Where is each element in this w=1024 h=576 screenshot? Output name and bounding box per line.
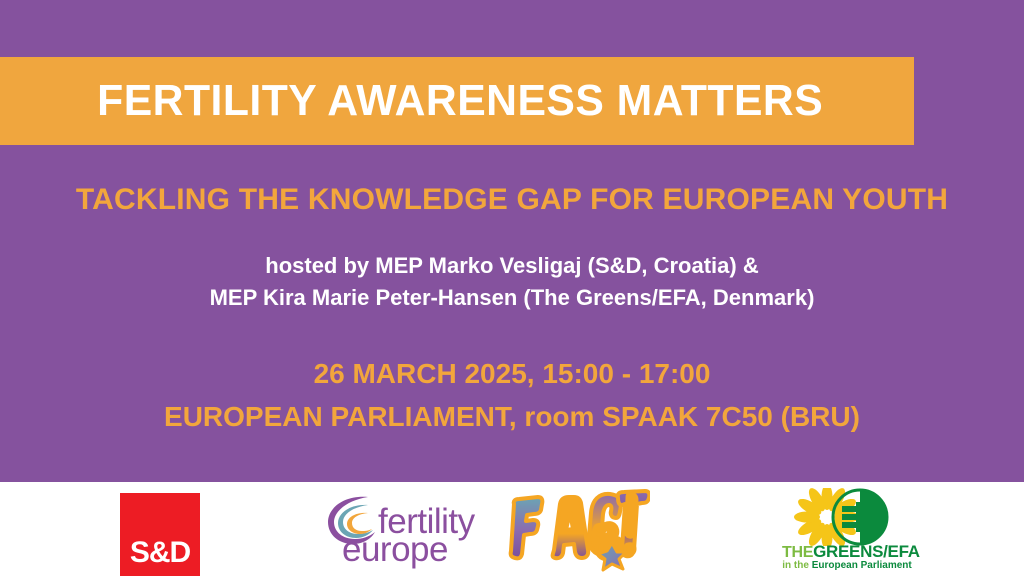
facts-logo-icon xyxy=(508,488,650,572)
sd-logo-text: S&D xyxy=(120,538,200,568)
greens-efa-logo: THEGREENS/EFA in the European Parliament xyxy=(782,488,912,576)
greens-efa-tagline-bold: European Parliament xyxy=(812,560,912,571)
title-banner: FERTILITY AWARENESS MATTERS xyxy=(0,57,914,145)
greens-efa-tagline: in the European Parliament xyxy=(782,561,912,571)
host-line-2: MEP Kira Marie Peter-Hansen (The Greens/… xyxy=(0,282,1024,314)
greens-efa-tagline-light: in the xyxy=(782,560,811,571)
facts-logo xyxy=(508,488,650,572)
greens-efa-name: GREENS/EFA xyxy=(813,542,920,561)
subtitle: TACKLING THE KNOWLEDGE GAP FOR EUROPEAN … xyxy=(0,183,1024,216)
hosts-block: hosted by MEP Marko Vesligaj (S&D, Croat… xyxy=(0,250,1024,314)
event-details-block: 26 MARCH 2025, 15:00 - 17:00 EUROPEAN PA… xyxy=(0,352,1024,439)
fertility-europe-logo: fertility europe xyxy=(322,492,498,566)
event-datetime: 26 MARCH 2025, 15:00 - 17:00 xyxy=(0,352,1024,395)
host-line-1: hosted by MEP Marko Vesligaj (S&D, Croat… xyxy=(0,250,1024,282)
greens-efa-title: THEGREENS/EFA xyxy=(782,543,912,561)
logo-strip: S&D fertility europe xyxy=(0,482,1024,576)
sd-logo: S&D xyxy=(120,493,200,576)
event-poster: FERTILITY AWARENESS MATTERS TACKLING THE… xyxy=(0,0,1024,576)
greens-efa-sunflower-icon xyxy=(782,488,912,546)
fertility-europe-word-2: europe xyxy=(342,532,448,567)
page-title: FERTILITY AWARENESS MATTERS xyxy=(91,79,823,123)
event-venue: EUROPEAN PARLIAMENT, room SPAAK 7C50 (BR… xyxy=(0,395,1024,438)
greens-efa-the: THE xyxy=(782,544,813,561)
